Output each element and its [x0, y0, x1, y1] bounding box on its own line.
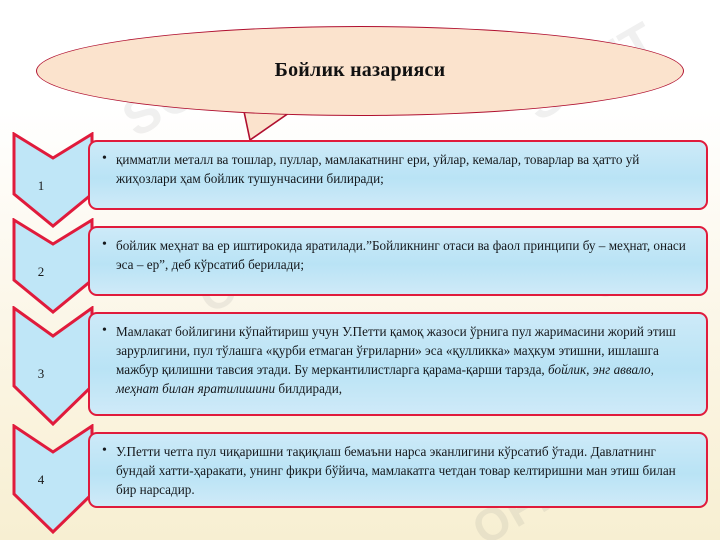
title-oval-shape: Бойлик назарияси: [36, 26, 684, 116]
bullet-text: У.Петти четга пул чиқаришни тақиқлаш бем…: [116, 442, 692, 499]
content-box-1: қимматли металл ва тошлар, пуллар, мамла…: [88, 140, 708, 210]
content-box-4: У.Петти четга пул чиқаришни тақиқлаш бем…: [88, 432, 708, 508]
step-number: 2: [0, 264, 82, 280]
content-box-3: Мамлакат бойлигини кўпайтириш учун У.Пет…: [88, 312, 708, 416]
title-callout: Бойлик назарияси: [36, 26, 684, 122]
content-box-2: бойлик меҳнат ва ер иштирокида яратилади…: [88, 226, 708, 296]
step-number: 1: [0, 178, 82, 194]
bullet-text: қимматли металл ва тошлар, пуллар, мамла…: [116, 150, 692, 188]
bullet-text: бойлик меҳнат ва ер иштирокида яратилади…: [116, 236, 692, 274]
step-number: 3: [0, 366, 82, 382]
step-number: 4: [0, 472, 82, 488]
page-title: Бойлик назарияси: [275, 59, 446, 82]
bullet-text: Мамлакат бойлигини кўпайтириш учун У.Пет…: [116, 322, 692, 398]
bullet-text-tail: билдиради,: [275, 381, 342, 396]
slide-canvas: SOFT SOFT OFF OFF OFF OFF Бойлик назария…: [0, 0, 720, 540]
